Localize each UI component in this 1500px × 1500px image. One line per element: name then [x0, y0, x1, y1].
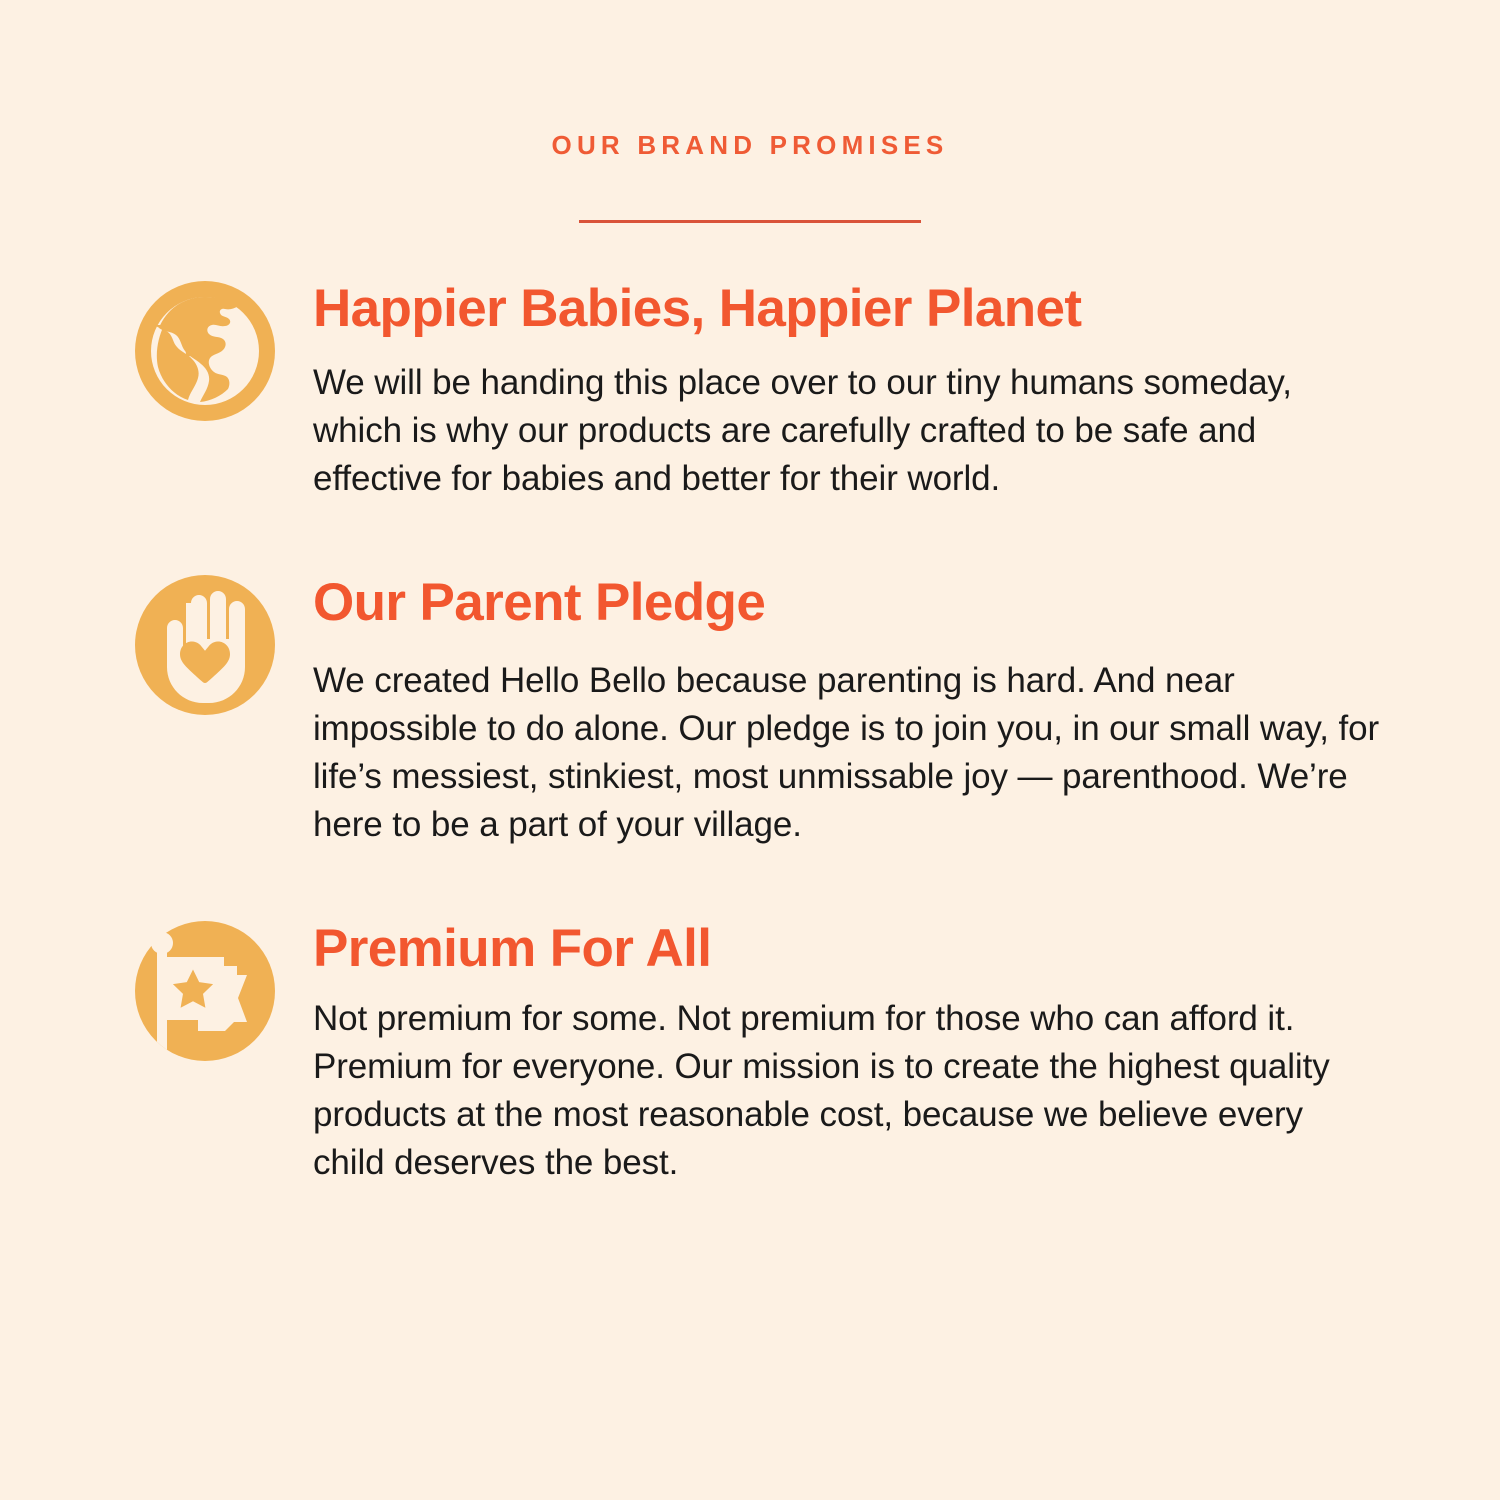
promise-title: Our Parent Pledge — [313, 575, 1380, 631]
header-divider — [579, 220, 921, 223]
list-item: Premium For All Not premium for some. No… — [0, 919, 1500, 1187]
page-header: OUR BRAND PROMISES — [0, 0, 1500, 223]
globe-icon — [133, 279, 277, 423]
divider-container — [0, 220, 1500, 223]
promise-description: Not premium for some. Not premium for th… — [313, 995, 1373, 1187]
promise-text: Premium For All Not premium for some. No… — [313, 919, 1380, 1187]
brand-promises-page: OUR BRAND PROMISES — [0, 0, 1500, 1500]
list-item: Our Parent Pledge We created Hello Bello… — [0, 573, 1500, 849]
promise-title: Premium For All — [313, 921, 1380, 977]
page-title: OUR BRAND PROMISES — [0, 132, 1500, 158]
promise-text: Our Parent Pledge We created Hello Bello… — [313, 573, 1380, 849]
promise-description: We created Hello Bello because parenting… — [313, 657, 1380, 849]
list-item: Happier Babies, Happier Planet We will b… — [0, 279, 1500, 503]
promise-text: Happier Babies, Happier Planet We will b… — [313, 279, 1380, 503]
promise-description: We will be handing this place over to ou… — [313, 359, 1323, 503]
hand-heart-icon — [133, 573, 277, 717]
promises-list: Happier Babies, Happier Planet We will b… — [0, 279, 1500, 1187]
flag-star-icon — [133, 919, 277, 1063]
promise-title: Happier Babies, Happier Planet — [313, 281, 1380, 337]
